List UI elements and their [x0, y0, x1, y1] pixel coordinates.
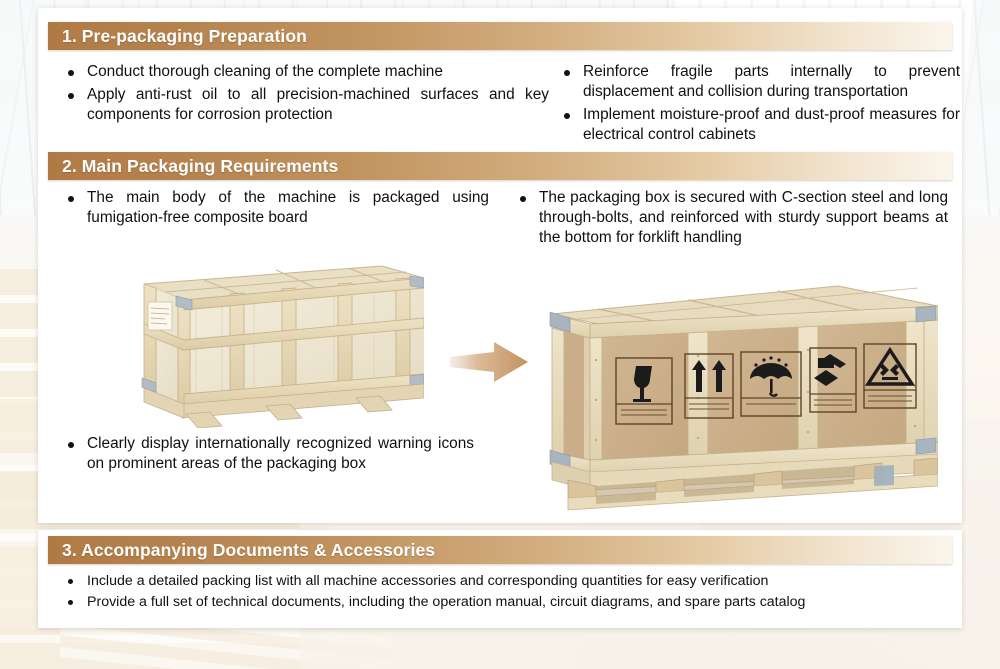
section-header-pre-packaging: 1. Pre-packaging Preparation — [48, 22, 952, 50]
section-3-title: 3. Accompanying Documents & Accessories — [48, 540, 435, 561]
section-1-bullets-right: Reinforce fragile parts internally to pr… — [560, 62, 960, 148]
list-item: Conduct thorough cleaning of the complet… — [64, 62, 549, 82]
wooden-crate-open-plank-image — [126, 256, 424, 428]
section-header-accompanying-documents: 3. Accompanying Documents & Accessories — [48, 536, 952, 564]
list-item: Reinforce fragile parts internally to pr… — [560, 62, 960, 102]
transform-arrow-icon — [450, 338, 528, 386]
section-1-title: 1. Pre-packaging Preparation — [48, 26, 307, 47]
list-item: Apply anti-rust oil to all precision-mac… — [64, 85, 549, 125]
section-2-bullets-left-lower: Clearly display internationally recogniz… — [64, 434, 474, 477]
content-panel-upper: 1. Pre-packaging Preparation Conduct tho… — [38, 8, 962, 523]
content-panel-lower: 3. Accompanying Documents & Accessories … — [38, 530, 962, 628]
section-header-main-packaging: 2. Main Packaging Requirements — [48, 152, 952, 180]
list-item: The main body of the machine is packaged… — [64, 188, 489, 228]
list-item: Clearly display internationally recogniz… — [64, 434, 474, 474]
list-item: Provide a full set of technical document… — [64, 593, 944, 611]
list-item: The packaging box is secured with C-sect… — [516, 188, 948, 248]
list-item: Implement moisture-proof and dust-proof … — [560, 105, 960, 145]
wooden-crate-with-warning-labels-image — [538, 280, 938, 512]
section-3-bullets: Include a detailed packing list with all… — [64, 572, 944, 614]
section-2-bullets-right: The packaging box is secured with C-sect… — [516, 188, 948, 251]
section-2-title: 2. Main Packaging Requirements — [48, 156, 338, 177]
section-2-bullets-left: The main body of the machine is packaged… — [64, 188, 489, 231]
list-item: Include a detailed packing list with all… — [64, 572, 944, 590]
section-1-bullets-left: Conduct thorough cleaning of the complet… — [64, 62, 549, 128]
